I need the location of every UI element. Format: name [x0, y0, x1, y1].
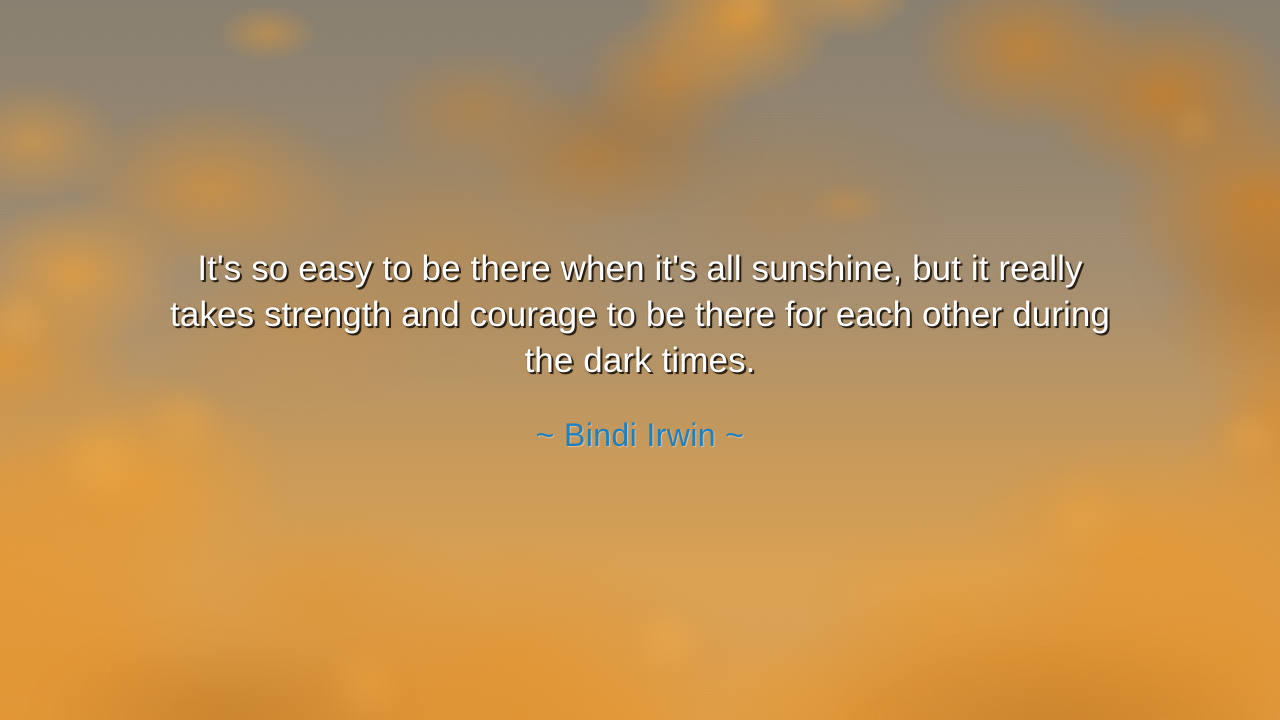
quote-line-3: the dark times.	[85, 338, 1195, 384]
quote-image-canvas: It's so easy to be there when it's all s…	[0, 0, 1280, 720]
quote-line-1: It's so easy to be there when it's all s…	[85, 246, 1195, 292]
quote-content: It's so easy to be there when it's all s…	[0, 0, 1280, 720]
quote-text: It's so easy to be there when it's all s…	[85, 246, 1195, 384]
quote-attribution: ~ Bindi Irwin ~	[536, 416, 745, 454]
quote-line-2: takes strength and courage to be there f…	[85, 292, 1195, 338]
